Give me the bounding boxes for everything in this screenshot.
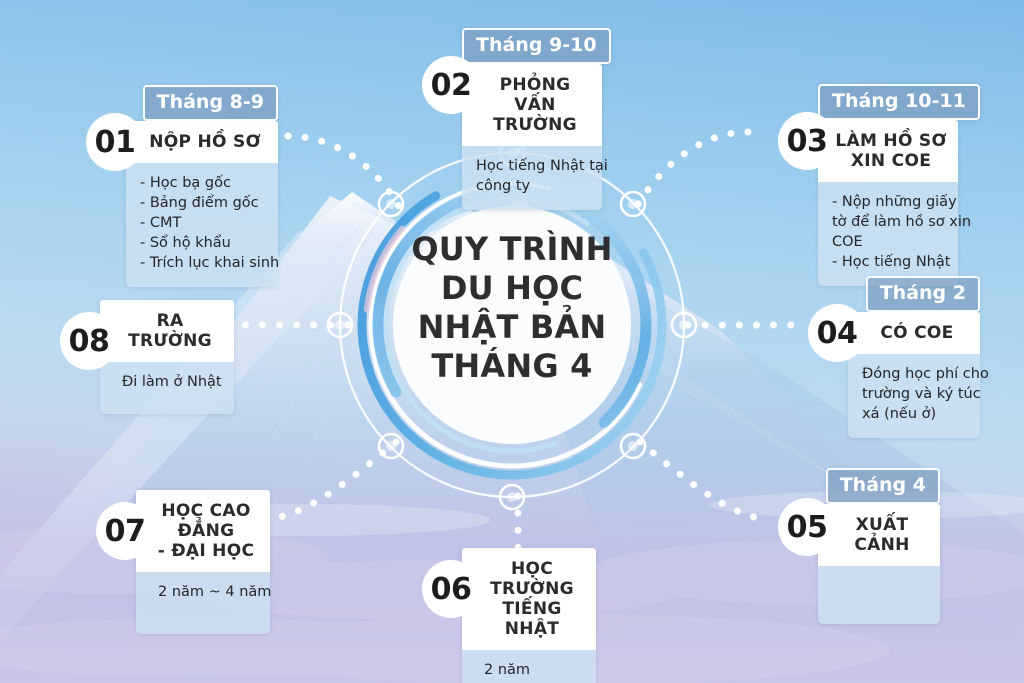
step-08-title: RA TRƯỜNG xyxy=(100,300,234,362)
step-08-number: 08 xyxy=(60,312,118,370)
step-04-number: 04 xyxy=(808,304,866,362)
step-card-07[interactable]: HỌC CAO ĐẲNG - ĐẠI HỌC 2 năm ~ 4 năm 07 xyxy=(136,490,270,634)
step-06-body-line: 2 năm xyxy=(484,660,584,680)
step-01-body: - Học bạ gốc - Bảng điểm gốc - CMT - Sổ … xyxy=(126,163,278,287)
step-04-body-line: trường và ký túc xyxy=(862,384,968,404)
step-card-02[interactable]: Tháng 9-10 PHỎNG VẤN TRƯỜNG Học tiếng Nh… xyxy=(462,28,602,210)
center-title-line-2: DU HỌC xyxy=(387,269,637,308)
center-title: QUY TRÌNH DU HỌC NHẬT BẢN THÁNG 4 xyxy=(387,230,637,386)
step-01-month-badge: Tháng 8-9 xyxy=(143,85,278,121)
step-07-body-line: 2 năm ~ 4 năm xyxy=(158,582,258,602)
step-08-body: Đi làm ở Nhật xyxy=(100,362,234,414)
step-04-body-line: Đóng học phí cho xyxy=(862,364,968,384)
step-06-card: HỌC TRƯỜNG TIẾNG NHẬT 2 năm xyxy=(462,548,596,683)
step-07-title: HỌC CAO ĐẲNG - ĐẠI HỌC xyxy=(136,490,270,572)
step-07-body: 2 năm ~ 4 năm xyxy=(136,572,270,634)
step-card-06[interactable]: HỌC TRƯỜNG TIẾNG NHẬT 2 năm 06 xyxy=(462,548,596,683)
step-03-title: LÀM HỒ SƠ XIN COE xyxy=(818,120,958,182)
step-02-card: Tháng 9-10 PHỎNG VẤN TRƯỜNG Học tiếng Nh… xyxy=(462,28,602,210)
step-05-body xyxy=(818,566,940,624)
step-04-title: CÓ COE xyxy=(848,312,980,354)
step-card-04[interactable]: Tháng 2 CÓ COE Đóng học phí cho trường v… xyxy=(848,276,980,438)
step-06-number: 06 xyxy=(422,560,480,618)
step-05-card: Tháng 4 XUẤT CẢNH xyxy=(818,468,940,624)
step-02-body-line: Học tiếng Nhật tại xyxy=(476,156,590,176)
step-03-body-line: - Nộp những giấy xyxy=(832,192,946,212)
center-title-line-1: QUY TRÌNH xyxy=(387,230,637,269)
step-01-body-line: - CMT xyxy=(140,213,266,233)
step-05-number: 05 xyxy=(778,498,836,556)
step-04-body: Đóng học phí cho trường và ký túc xá (nế… xyxy=(848,354,980,438)
center-title-line-4: THÁNG 4 xyxy=(387,347,637,386)
step-03-body-line: COE xyxy=(832,232,946,252)
step-02-month-badge: Tháng 9-10 xyxy=(462,28,611,64)
step-05-title: XUẤT CẢNH xyxy=(818,504,940,566)
step-08-card: RA TRƯỜNG Đi làm ở Nhật xyxy=(100,300,234,414)
step-01-body-line: - Sổ hộ khẩu xyxy=(140,233,266,253)
step-03-body-line: - Học tiếng Nhật xyxy=(832,252,946,272)
step-05-month-badge: Tháng 4 xyxy=(826,468,940,504)
step-card-01[interactable]: Tháng 8-9 NỘP HỒ SƠ - Học bạ gốc - Bảng … xyxy=(126,85,278,287)
step-03-month-badge: Tháng 10-11 xyxy=(818,84,980,120)
infographic-canvas: QUY TRÌNH DU HỌC NHẬT BẢN THÁNG 4 Tháng … xyxy=(0,0,1024,683)
step-06-title: HỌC TRƯỜNG TIẾNG NHẬT xyxy=(462,548,596,650)
step-01-card: Tháng 8-9 NỘP HỒ SƠ - Học bạ gốc - Bảng … xyxy=(126,85,278,287)
step-01-title: NỘP HỒ SƠ xyxy=(126,121,278,163)
step-card-08[interactable]: RA TRƯỜNG Đi làm ở Nhật 08 xyxy=(100,300,234,414)
step-02-number: 02 xyxy=(422,56,480,114)
step-04-body-line: xá (nếu ở) xyxy=(862,404,968,424)
step-07-number: 07 xyxy=(96,502,154,560)
step-03-body: - Nộp những giấy tờ để làm hồ sơ xin COE… xyxy=(818,182,958,286)
step-01-number: 01 xyxy=(86,113,144,171)
step-06-body: 2 năm xyxy=(462,650,596,683)
step-01-body-line: - Trích lục khai sinh xyxy=(140,253,266,273)
step-04-card: Tháng 2 CÓ COE Đóng học phí cho trường v… xyxy=(848,276,980,438)
step-02-body-line: công ty xyxy=(476,176,590,196)
step-01-body-line: - Bảng điểm gốc xyxy=(140,193,266,213)
step-03-number: 03 xyxy=(778,112,836,170)
step-03-card: Tháng 10-11 LÀM HỒ SƠ XIN COE - Nộp nhữn… xyxy=(818,84,958,286)
center-title-line-3: NHẬT BẢN xyxy=(387,308,637,347)
step-07-card: HỌC CAO ĐẲNG - ĐẠI HỌC 2 năm ~ 4 năm xyxy=(136,490,270,634)
step-02-title: PHỎNG VẤN TRƯỜNG xyxy=(462,64,602,146)
step-card-05[interactable]: Tháng 4 XUẤT CẢNH 05 xyxy=(818,468,940,624)
step-03-body-line: tờ để làm hồ sơ xin xyxy=(832,212,946,232)
step-04-month-badge: Tháng 2 xyxy=(866,276,980,312)
step-card-03[interactable]: Tháng 10-11 LÀM HỒ SƠ XIN COE - Nộp nhữn… xyxy=(818,84,958,286)
step-08-body-line: Đi làm ở Nhật xyxy=(122,372,222,392)
step-01-body-line: - Học bạ gốc xyxy=(140,173,266,193)
step-02-body: Học tiếng Nhật tại công ty xyxy=(462,146,602,210)
